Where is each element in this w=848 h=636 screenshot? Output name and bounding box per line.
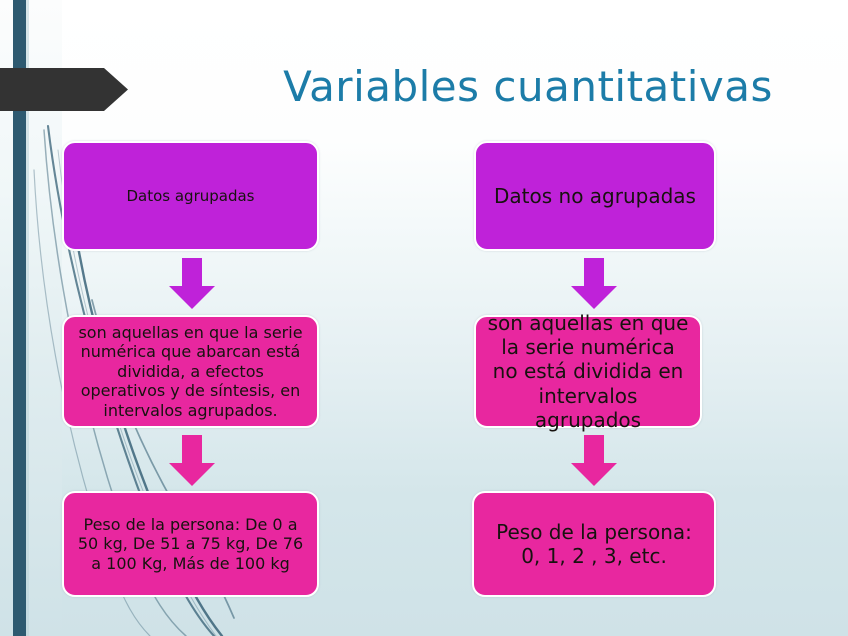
connector-arrow-right-2 [570,435,618,487]
node-label: Datos agrupadas [126,187,254,205]
node-definicion-agrupadas[interactable]: son aquellas en que la serie numérica qu… [62,315,319,428]
node-label: son aquellas en que la serie numérica qu… [74,323,307,421]
node-definicion-no-agrupadas[interactable]: son aquellas en que la serie numérica no… [474,315,702,428]
node-label: Peso de la persona: 0, 1, 2 , 3, etc. [484,520,704,569]
connector-arrow-right-1 [570,258,618,310]
node-ejemplo-agrupadas[interactable]: Peso de la persona: De 0 a 50 kg, De 51 … [62,491,319,597]
banner-arrow-shape [0,68,128,111]
node-datos-agrupadas[interactable]: Datos agrupadas [62,141,319,251]
connector-arrow-left-2 [168,435,216,487]
node-label: Peso de la persona: De 0 a 50 kg, De 51 … [74,515,307,574]
connector-arrow-left-1 [168,258,216,310]
page-title: Variables cuantitativas [248,62,808,111]
node-label: Datos no agrupadas [494,184,696,208]
node-ejemplo-no-agrupadas[interactable]: Peso de la persona: 0, 1, 2 , 3, etc. [472,491,716,597]
node-datos-no-agrupadas[interactable]: Datos no agrupadas [474,141,716,251]
node-label: son aquellas en que la serie numérica no… [486,311,690,433]
slide-canvas: Variables cuantitativas Datos agrupadas … [0,0,848,636]
